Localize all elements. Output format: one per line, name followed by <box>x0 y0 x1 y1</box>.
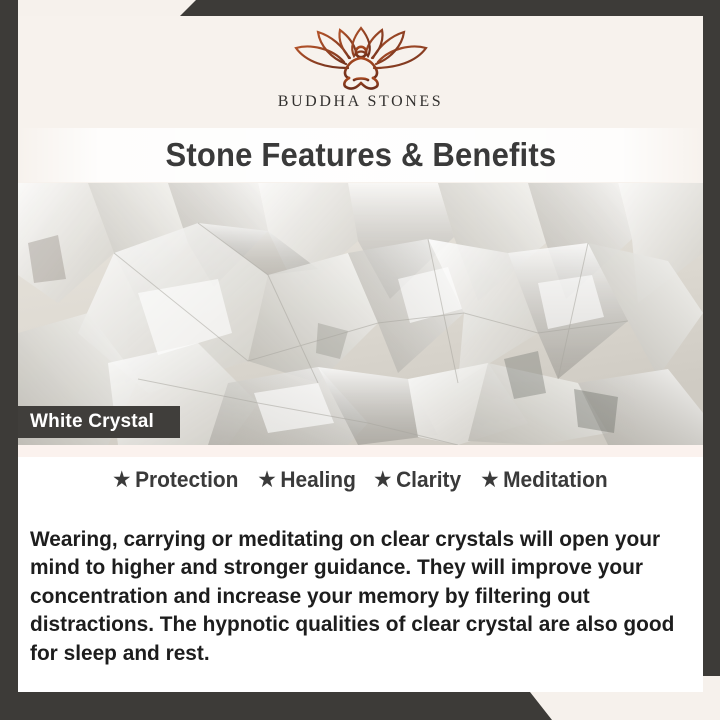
tint-divider <box>18 445 703 457</box>
benefit-label: Protection <box>135 467 238 493</box>
frame-right-bar <box>703 0 720 676</box>
benefits-row: ★ Protection ★ Healing ★ Clarity ★ Medit… <box>18 467 703 493</box>
star-icon: ★ <box>259 470 276 490</box>
benefit-label: Clarity <box>396 467 461 493</box>
card-header: BUDDHA STONES <box>18 16 703 128</box>
photo-label-text: White Crystal <box>30 411 154 433</box>
benefit-label: Healing <box>280 467 355 493</box>
star-icon: ★ <box>375 470 392 490</box>
title-banner: Stone Features & Benefits <box>18 128 703 182</box>
benefit-healing: ★ Healing <box>259 467 356 493</box>
stone-feature-card: BUDDHA STONES Stone Features & Benefits <box>0 0 720 720</box>
brand-logo: BUDDHA STONES <box>18 16 703 111</box>
photo-label-badge: White Crystal <box>0 406 180 438</box>
page-title: Stone Features & Benefits <box>165 136 556 174</box>
benefit-clarity: ★ Clarity <box>375 467 462 493</box>
card-content: ★ Protection ★ Healing ★ Clarity ★ Medit… <box>18 445 703 692</box>
benefit-label: Meditation <box>503 467 608 493</box>
benefit-protection: ★ Protection <box>114 467 239 493</box>
benefit-meditation: ★ Meditation <box>481 467 607 493</box>
frame-left-bar <box>0 0 18 694</box>
star-icon: ★ <box>481 470 498 490</box>
description-paragraph: Wearing, carrying or meditating on clear… <box>30 525 676 668</box>
frame-top-bar <box>150 0 720 16</box>
lotus-meditation-icon <box>286 24 436 92</box>
frame-bottom-bar <box>0 692 552 720</box>
star-icon: ★ <box>114 470 131 490</box>
brand-name: BUDDHA STONES <box>18 93 703 111</box>
